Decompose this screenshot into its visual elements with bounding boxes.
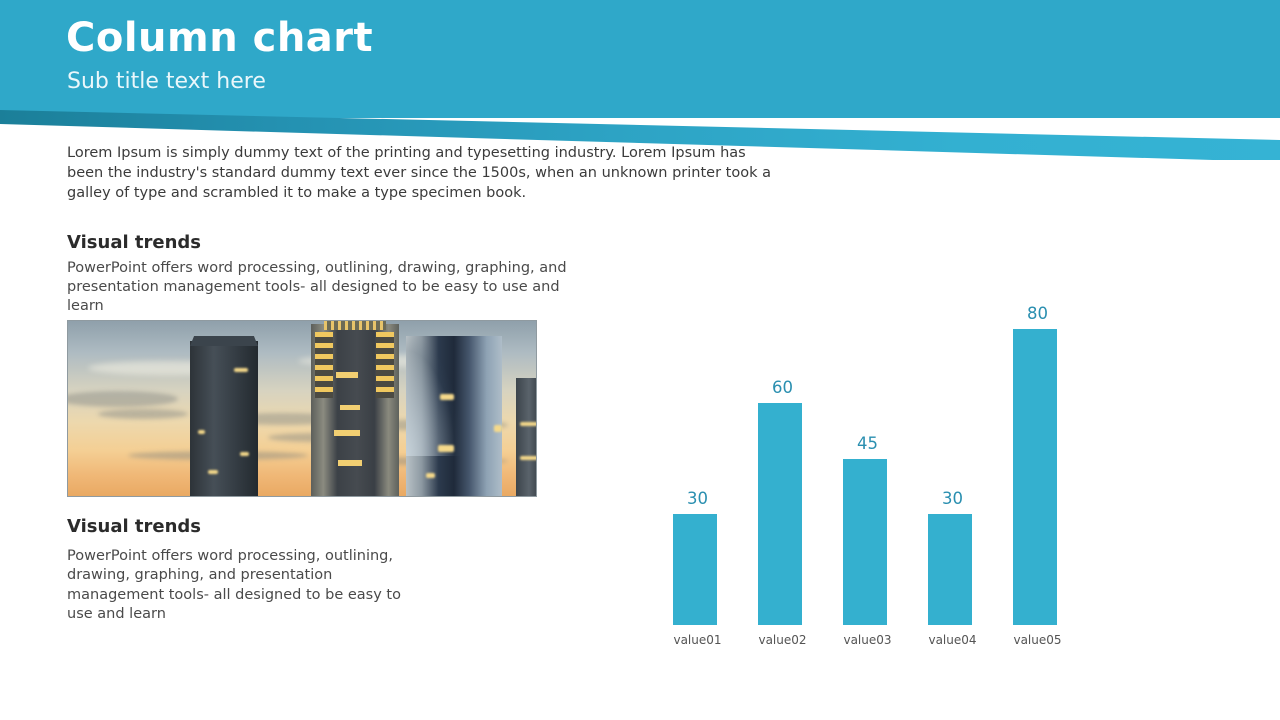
building-light — [338, 460, 362, 466]
section-two-heading: Visual trends — [67, 516, 201, 537]
chart-bar-value-label: 45 — [825, 434, 910, 453]
chart-category-label: value03 — [825, 633, 910, 647]
building-light — [376, 332, 394, 398]
chart-bar-value-label: 80 — [995, 304, 1080, 323]
chart-column[interactable]: 30value01 — [655, 255, 740, 625]
chart-column[interactable]: 30value04 — [910, 255, 995, 625]
building-light — [315, 332, 333, 398]
section-one-heading: Visual trends — [67, 232, 201, 253]
section-two-body-text: PowerPoint offers word processing, outli… — [67, 547, 415, 625]
chart-plot-area: 30value0160value0245value0330value0480va… — [655, 255, 1085, 625]
building-light — [336, 372, 358, 378]
building-light — [494, 425, 502, 432]
building-light — [198, 430, 205, 434]
building-light — [340, 405, 360, 410]
building-light — [520, 456, 537, 460]
skyline-photo — [67, 320, 537, 497]
cloud-shape — [98, 409, 188, 419]
chart-column[interactable]: 60value02 — [740, 255, 825, 625]
building-light — [240, 452, 249, 456]
chart-category-label: value04 — [910, 633, 995, 647]
chart-bar[interactable] — [843, 459, 887, 626]
chart-bar-value-label: 60 — [740, 378, 825, 397]
chart-bar[interactable] — [1013, 329, 1057, 625]
building-light — [520, 422, 537, 426]
chart-category-label: value05 — [995, 633, 1080, 647]
section-one-body-text: PowerPoint offers word processing, outli… — [67, 259, 583, 316]
chart-bar[interactable] — [928, 514, 972, 625]
chart-category-label: value02 — [740, 633, 825, 647]
chart-bar-value-label: 30 — [910, 489, 995, 508]
chart-column[interactable]: 45value03 — [825, 255, 910, 625]
column-chart: 30value0160value0245value0330value0480va… — [655, 255, 1085, 655]
cloud-shape — [67, 391, 178, 407]
intro-paragraph: Lorem Ipsum is simply dummy text of the … — [67, 143, 783, 203]
building-shape — [516, 378, 537, 496]
building-shape — [190, 336, 258, 346]
building-light — [438, 445, 454, 452]
building-shape — [190, 341, 258, 496]
page-title: Column chart — [66, 16, 373, 60]
header-banner: Column chart Sub title text here — [0, 0, 1280, 160]
chart-bar[interactable] — [758, 403, 802, 625]
building-light — [426, 473, 435, 478]
building-light — [334, 430, 360, 436]
chart-category-label: value01 — [655, 633, 740, 647]
building-light — [234, 368, 248, 372]
chart-bar[interactable] — [673, 514, 717, 625]
chart-bar-value-label: 30 — [655, 489, 740, 508]
building-light — [440, 394, 454, 400]
building-light — [208, 470, 218, 474]
chart-column[interactable]: 80value05 — [995, 255, 1080, 625]
building-shape — [324, 320, 386, 330]
page-subtitle: Sub title text here — [67, 70, 266, 94]
